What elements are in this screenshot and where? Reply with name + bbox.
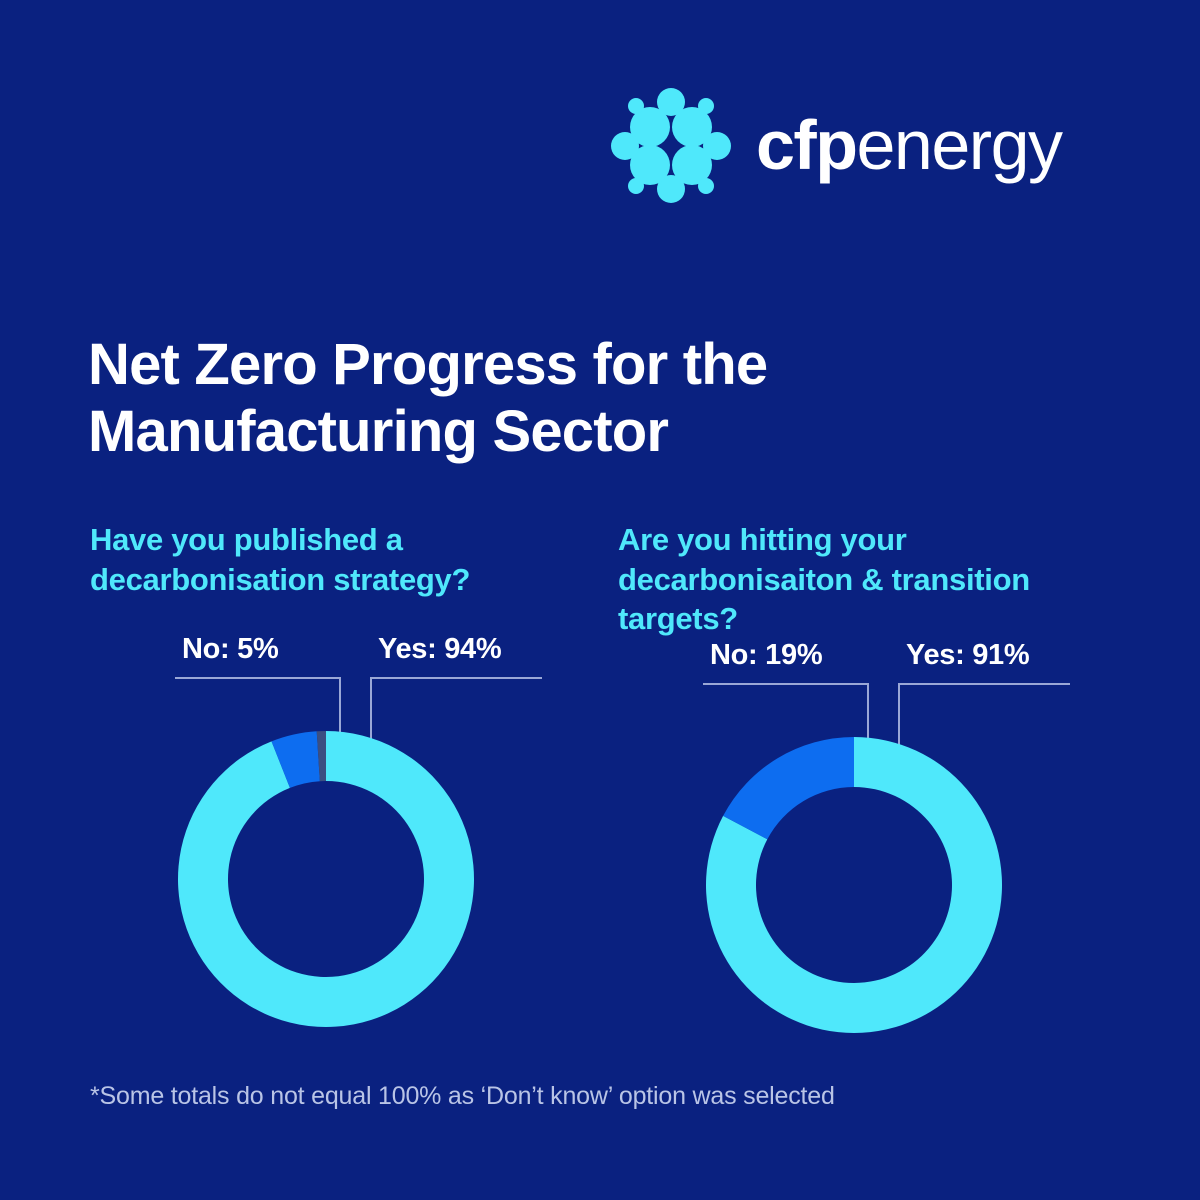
brand-name-secondary: energy (857, 106, 1062, 184)
callout-label-no-right: No: 19% (710, 639, 822, 672)
footnote-text: *Some totals do not equal 100% as ‘Don’t… (90, 1082, 835, 1111)
donut-segments-right (706, 737, 1002, 1033)
brand-name-primary: cfp (756, 106, 857, 184)
donut-segments-left (178, 731, 474, 1027)
brand-logo: cfpenergy (608, 82, 1062, 208)
cfp-dot-cluster-logo-icon (608, 82, 734, 208)
callout-label-yes-left: Yes: 94% (378, 633, 501, 666)
chart-panel-hitting-targets: Are you hitting your decarbonisaiton & t… (618, 520, 1118, 1035)
donut-chart-right (704, 735, 1004, 1035)
donut-chart-left (176, 729, 476, 1029)
callout-label-no-left: No: 5% (182, 633, 279, 666)
chart-question-left: Have you published a decarbonisation str… (90, 520, 590, 599)
callout-label-yes-right: Yes: 91% (906, 639, 1029, 672)
callout-group-right: No: 19% Yes: 91% (618, 639, 1118, 729)
donut-segment-no (723, 737, 854, 839)
chart-panel-published-strategy: Have you published a decarbonisation str… (90, 520, 590, 1029)
callout-group-left: No: 5% Yes: 94% (90, 633, 590, 723)
chart-question-right: Are you hitting your decarbonisaiton & t… (618, 520, 1118, 639)
page-title: Net Zero Progress for the Manufacturing … (88, 332, 968, 465)
brand-wordmark: cfpenergy (756, 110, 1062, 180)
